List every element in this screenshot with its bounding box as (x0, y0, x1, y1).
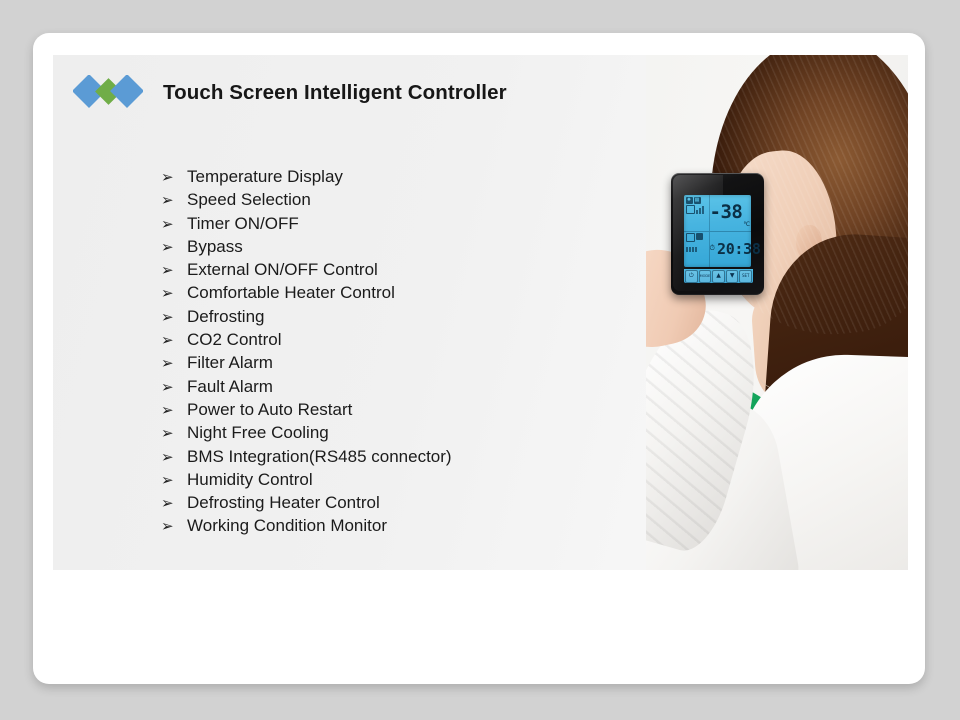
list-item-label: Power to Auto Restart (187, 398, 352, 421)
up-button[interactable]: ▲ (712, 270, 725, 283)
bullet-arrow-icon: ➢ (161, 259, 187, 282)
clock-icon: ⏱ (710, 245, 715, 253)
bullet-arrow-icon: ➢ (161, 236, 187, 259)
list-item: ➢ Defrosting Heater Control (161, 491, 452, 514)
bullet-arrow-icon: ➢ (161, 422, 187, 445)
bullet-arrow-icon: ➢ (161, 306, 187, 329)
bullet-arrow-icon: ➢ (161, 189, 187, 212)
touch-screen-thermostat[interactable]: ✹ ▦ -38 ℃ (671, 173, 764, 295)
slide-header: Touch Screen Intelligent Controller (73, 75, 507, 111)
list-item-label: CO2 Control (187, 328, 281, 351)
device-button-row: ⏻ MODE ▲ ▼ SET (684, 269, 753, 283)
list-item: ➢ Night Free Cooling (161, 421, 452, 444)
list-item-label: Timer ON/OFF (187, 212, 299, 235)
list-item: ➢ Humidity Control (161, 468, 452, 491)
list-item: ➢ Working Condition Monitor (161, 514, 452, 537)
list-item: ➢ Power to Auto Restart (161, 398, 452, 421)
list-item-label: Defrosting (187, 305, 264, 328)
list-item-label: Fault Alarm (187, 375, 273, 398)
bullet-arrow-icon: ➢ (161, 399, 187, 422)
list-item: ➢ Comfortable Heater Control (161, 281, 452, 304)
power-button[interactable]: ⏻ (685, 270, 698, 283)
list-item-label: Humidity Control (187, 468, 313, 491)
list-item: ➢ CO2 Control (161, 328, 452, 351)
filter-icon: ▦ (694, 197, 701, 204)
house-icon (696, 233, 703, 240)
company-diamond-logo (73, 75, 143, 111)
lcd-time-row: ⏱ 20:38 (684, 232, 751, 268)
temperature-readout: -38 ℃ (710, 195, 754, 231)
bullet-arrow-icon: ➢ (161, 166, 187, 189)
bullet-arrow-icon: ➢ (161, 329, 187, 352)
list-item-label: Temperature Display (187, 165, 343, 188)
list-item: ➢ BMS Integration(RS485 connector) (161, 445, 452, 468)
fan-icon: ✹ (686, 197, 693, 204)
list-item: ➢ Defrosting (161, 305, 452, 328)
bullet-arrow-icon: ➢ (161, 213, 187, 236)
list-item-label: Working Condition Monitor (187, 514, 387, 537)
feature-list: ➢ Temperature Display ➢ Speed Selection … (161, 165, 452, 538)
list-item: ➢ External ON/OFF Control (161, 258, 452, 281)
list-item-label: Defrosting Heater Control (187, 491, 380, 514)
list-item: ➢ Filter Alarm (161, 351, 452, 374)
bullet-arrow-icon: ➢ (161, 469, 187, 492)
speed-bars-icon (696, 206, 704, 214)
lcd-temperature-row: ✹ ▦ -38 ℃ (684, 195, 751, 232)
list-item-label: Night Free Cooling (187, 421, 329, 444)
list-item-label: Filter Alarm (187, 351, 273, 374)
lcd-status-icons-bottom (684, 232, 710, 268)
temperature-unit: ℃ (743, 221, 750, 231)
list-item-label: BMS Integration(RS485 connector) (187, 445, 452, 468)
lcd-display: ✹ ▦ -38 ℃ (684, 195, 751, 267)
slide-stage: Touch Screen Intelligent Controller ➢ Te… (0, 0, 960, 720)
bell-icon (686, 233, 695, 242)
time-value: 20:38 (717, 242, 761, 257)
temperature-value: -38 (710, 203, 743, 222)
bullet-arrow-icon: ➢ (161, 352, 187, 375)
lcd-status-icons-top: ✹ ▦ (684, 195, 710, 231)
list-item-label: External ON/OFF Control (187, 258, 378, 281)
bullet-arrow-icon: ➢ (161, 376, 187, 399)
woman-touching-controller-photo (646, 55, 908, 570)
presentation-slide: Touch Screen Intelligent Controller ➢ Te… (33, 33, 925, 684)
bullet-arrow-icon: ➢ (161, 282, 187, 305)
list-item: ➢ Timer ON/OFF (161, 212, 452, 235)
list-item-label: Bypass (187, 235, 243, 258)
grid-icon (686, 205, 695, 214)
page-title: Touch Screen Intelligent Controller (163, 81, 507, 105)
mode-bars-icon (686, 244, 697, 252)
bullet-arrow-icon: ➢ (161, 446, 187, 469)
bullet-arrow-icon: ➢ (161, 515, 187, 538)
list-item: ➢ Bypass (161, 235, 452, 258)
slide-content-panel: Touch Screen Intelligent Controller ➢ Te… (53, 55, 908, 570)
down-button[interactable]: ▼ (726, 270, 739, 283)
time-readout: ⏱ 20:38 (710, 232, 764, 268)
list-item: ➢ Speed Selection (161, 188, 452, 211)
list-item: ➢ Temperature Display (161, 165, 452, 188)
list-item-label: Speed Selection (187, 188, 311, 211)
bullet-arrow-icon: ➢ (161, 492, 187, 515)
mode-button[interactable]: MODE (699, 270, 712, 283)
list-item: ➢ Fault Alarm (161, 375, 452, 398)
set-button[interactable]: SET (739, 270, 752, 283)
list-item-label: Comfortable Heater Control (187, 281, 395, 304)
